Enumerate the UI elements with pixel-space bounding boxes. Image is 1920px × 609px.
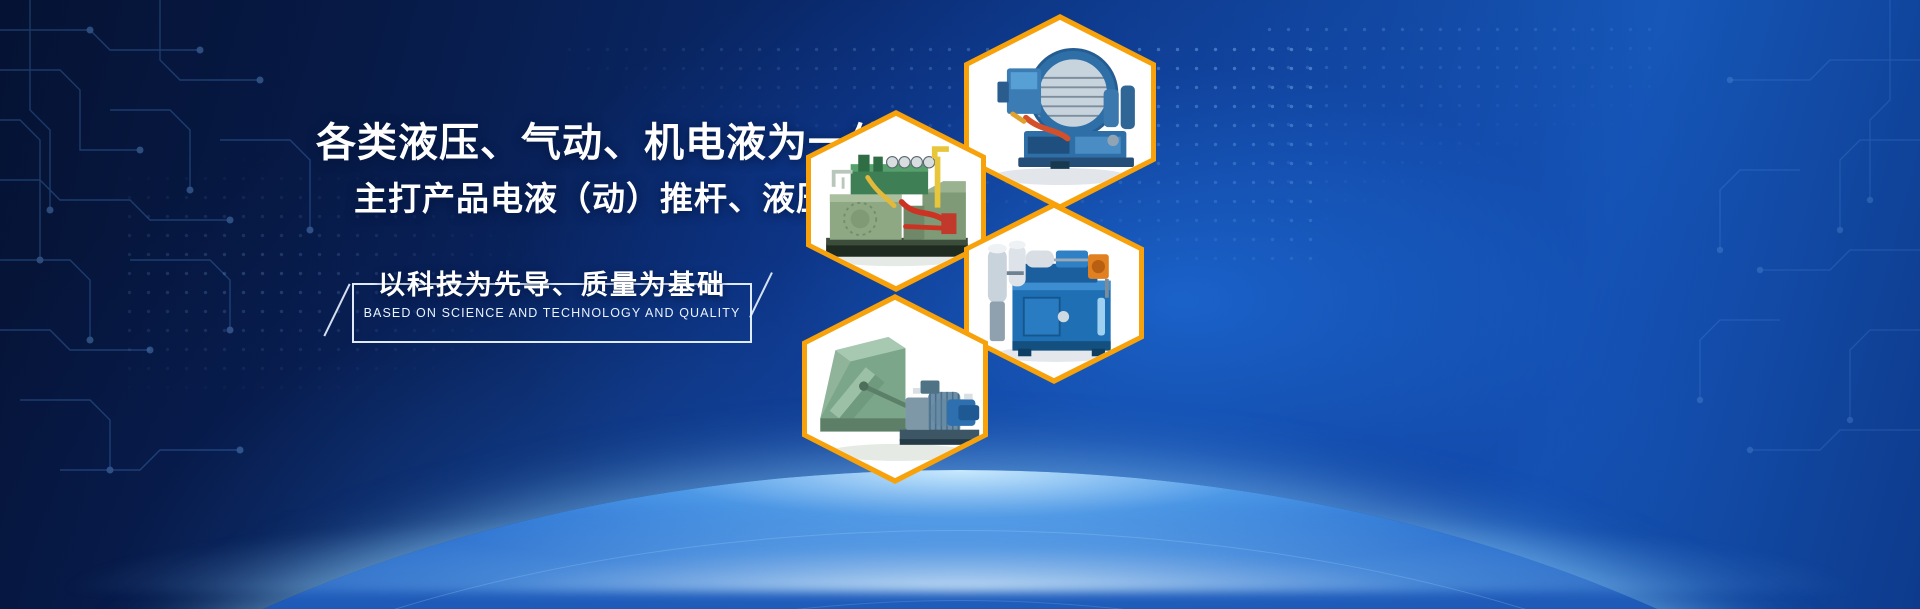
hero-banner: 各类液压、气动、机电液为一体 主打产品电液（动）推杆、液压站 以科技为先导、质量… (0, 0, 1920, 609)
slogan-accent-right (749, 272, 773, 318)
headline-primary: 各类液压、气动、机电液为一体 (316, 120, 796, 166)
slogan-english: BASED ON SCIENCE AND TECHNOLOGY AND QUAL… (364, 306, 741, 320)
product-hexagon-electro-hydraulic-pusher[interactable] (802, 294, 988, 484)
slogan-chinese: 以科技为先导、质量为基础 (378, 263, 726, 302)
dot-matrix-decoration-right (1260, 20, 1660, 220)
product-hexagon-damper-valve[interactable] (964, 14, 1156, 210)
slogan-accent-left (323, 283, 350, 336)
slogan-block: 以科技为先导、质量为基础 BASED ON SCIENCE AND TECHNO… (352, 283, 752, 343)
product-hexagon-pump-station[interactable] (806, 110, 986, 292)
headline-block: 各类液压、气动、机电液为一体 主打产品电液（动）推杆、液压站 (316, 120, 796, 218)
product-hexagon-power-unit[interactable] (964, 202, 1144, 384)
headline-secondary: 主打产品电液（动）推杆、液压站 (354, 180, 796, 218)
